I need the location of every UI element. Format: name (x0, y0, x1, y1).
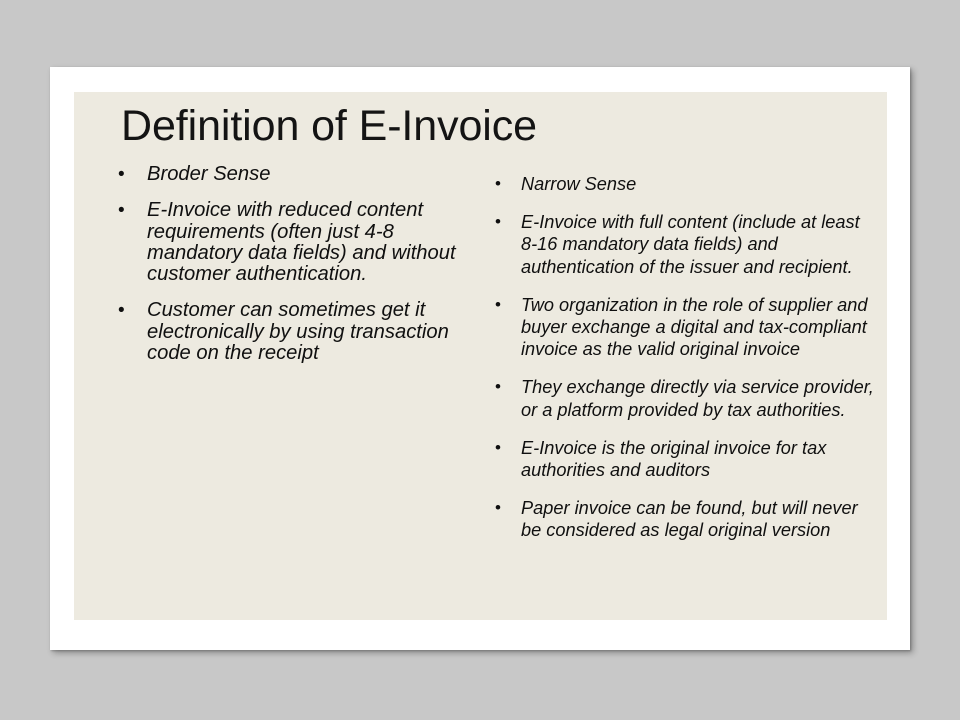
list-item-label: They exchange directly via service provi… (521, 376, 875, 420)
list-item: • Narrow Sense (495, 173, 875, 195)
bullet-point-icon: • (495, 437, 501, 459)
list-item-label: Two organization in the role of supplier… (521, 294, 875, 361)
list-item-label: E-Invoice is the original invoice for ta… (521, 437, 875, 481)
list-item: • They exchange directly via service pro… (495, 376, 875, 420)
bullet-point-icon: • (118, 300, 125, 321)
bullet-point-icon: • (118, 200, 125, 221)
list-item: • E-Invoice with full content (include a… (495, 211, 875, 278)
bullet-point-icon: • (118, 164, 125, 185)
bullet-point-icon: • (495, 376, 501, 398)
list-item-label: Customer can sometimes get it electronic… (147, 300, 473, 364)
bullet-point-icon: • (495, 173, 501, 195)
bullet-point-icon: • (495, 294, 501, 316)
list-item-label: Paper invoice can be found, but will nev… (521, 497, 875, 541)
bullet-column-right: • Narrow Sense • E-Invoice with full con… (495, 173, 875, 542)
list-item-label: E-Invoice with reduced content requireme… (147, 200, 473, 285)
slide-content-area: Definition of E-Invoice • Broder Sense •… (74, 92, 887, 620)
bullet-point-icon: • (495, 211, 501, 233)
bullet-column-left: • Broder Sense • E-Invoice with reduced … (118, 164, 473, 364)
page-title: Definition of E-Invoice (121, 100, 841, 152)
bullet-point-icon: • (495, 497, 501, 519)
slide-frame: Definition of E-Invoice • Broder Sense •… (50, 67, 910, 650)
bullet-list-left: • Broder Sense • E-Invoice with reduced … (118, 164, 473, 364)
slide-stage: Definition of E-Invoice • Broder Sense •… (0, 0, 960, 720)
list-item-label: E-Invoice with full content (include at … (521, 211, 875, 278)
list-item: • Customer can sometimes get it electron… (118, 300, 473, 364)
list-item: • E-Invoice is the original invoice for … (495, 437, 875, 481)
list-item: • Broder Sense (118, 164, 473, 185)
bullet-list-right: • Narrow Sense • E-Invoice with full con… (495, 173, 875, 542)
list-item: • E-Invoice with reduced content require… (118, 200, 473, 285)
list-item: • Paper invoice can be found, but will n… (495, 497, 875, 541)
list-item-label: Narrow Sense (521, 173, 875, 195)
list-item-label: Broder Sense (147, 164, 473, 185)
list-item: • Two organization in the role of suppli… (495, 294, 875, 361)
